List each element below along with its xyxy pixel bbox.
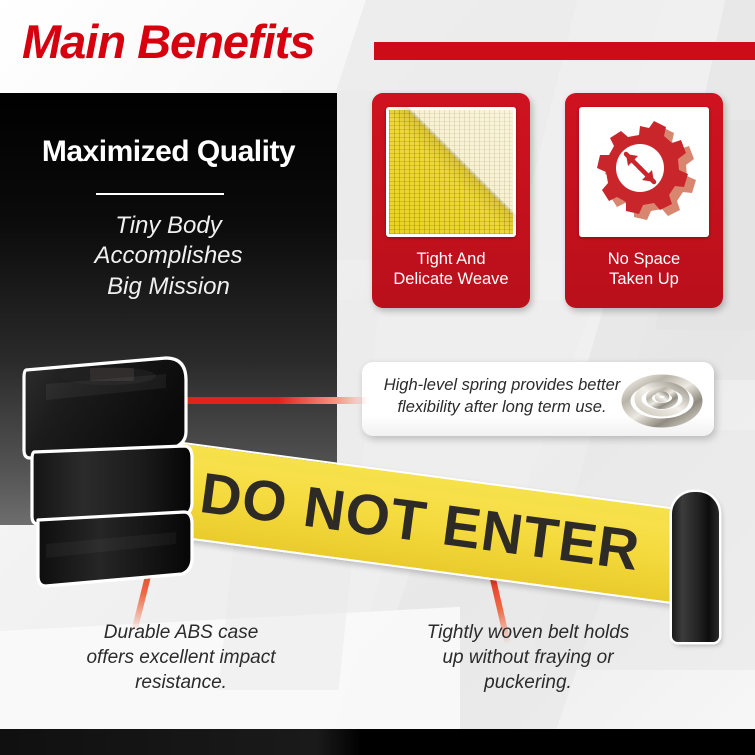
retractable-belt: DO NOT ENTER xyxy=(144,438,697,605)
gear-clock-thumbnail xyxy=(579,107,709,237)
belt-end-clip-icon xyxy=(672,492,719,642)
bottom-bar xyxy=(0,729,755,755)
header: Main Benefits xyxy=(0,0,755,93)
weave-swatch-thumbnail xyxy=(386,107,516,237)
belt-caption: Tightly woven belt holds up without fray… xyxy=(390,620,666,695)
weave-label-line-2: Delicate Weave xyxy=(378,269,524,289)
spring-callout: High-level spring provides better flexib… xyxy=(362,362,714,436)
case-caption-line-3: resistance. xyxy=(36,670,326,695)
page-title: Main Benefits xyxy=(22,14,315,69)
quality-subtitle-line-1: Tiny Body xyxy=(0,211,337,241)
spring-callout-text: High-level spring provides better flexib… xyxy=(378,375,626,419)
quality-panel-subtitle: Tiny Body Accomplishes Big Mission xyxy=(0,211,337,302)
title-rule xyxy=(374,42,755,60)
no-space-label-line-2: Taken Up xyxy=(571,269,717,289)
fabric-fold-highlight xyxy=(386,107,516,237)
gear-clock-compress-icon xyxy=(579,107,709,237)
belt-caption-line-3: puckering. xyxy=(390,670,666,695)
spring-text-line-2: flexibility after long term use. xyxy=(378,397,626,419)
feature-card-weave[interactable]: Tight And Delicate Weave xyxy=(372,93,530,308)
case-caption: Durable ABS case offers excellent impact… xyxy=(36,620,326,695)
infographic-canvas: Main Benefits Maximized Quality Tiny Bod… xyxy=(0,0,755,755)
case-caption-line-1: Durable ABS case xyxy=(36,620,326,645)
feature-card-no-space[interactable]: No Space Taken Up xyxy=(565,93,723,308)
belt-caption-line-2: up without fraying or xyxy=(390,645,666,670)
quality-subtitle-line-3: Big Mission xyxy=(0,272,337,302)
case-caption-line-2: offers excellent impact xyxy=(36,645,326,670)
spring-text-line-1: High-level spring provides better xyxy=(378,375,626,397)
quality-subtitle-line-2: Accomplishes xyxy=(0,241,337,271)
weave-label-line-1: Tight And xyxy=(378,249,524,269)
quality-panel-divider xyxy=(96,193,224,195)
no-space-label-line-1: No Space xyxy=(571,249,717,269)
belt-warning-text: DO NOT ENTER xyxy=(146,453,695,590)
belt-caption-line-1: Tightly woven belt holds xyxy=(390,620,666,645)
wall-mount-unit-icon xyxy=(16,354,221,594)
feature-card-no-space-label: No Space Taken Up xyxy=(571,249,717,289)
quality-panel-heading: Maximized Quality xyxy=(0,135,337,169)
feature-card-weave-label: Tight And Delicate Weave xyxy=(378,249,524,289)
coiled-spring-icon xyxy=(620,368,704,430)
